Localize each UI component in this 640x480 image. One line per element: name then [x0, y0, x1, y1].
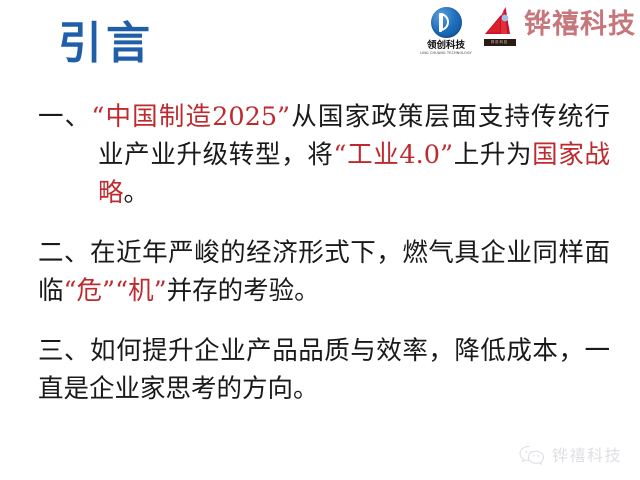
list-item: 二、在近年严峻的经济形式下，燃气具企业同样面临“危”“机”并存的考验。 [38, 234, 610, 310]
brand-ling-chuang-name-cn: 领创科技 [427, 40, 465, 51]
red-sail-icon: 铧禧科技 [483, 7, 519, 47]
brand-hua-xi-name-cn: 铧禧科技 [524, 7, 636, 41]
content-list: 一、“中国制造2025”从国家政策层面支持传统行业产业升级转型，将“工业4.0”… [38, 98, 610, 408]
list-item-marker: 二、 [38, 238, 90, 268]
circle-d-monogram-icon [431, 7, 462, 38]
list-item-text: 。 [124, 178, 150, 208]
list-item-marker: 三、 [38, 336, 90, 366]
slide-canvas: 引言 领创科技 LING CHUANG TECHNOLOGY 铧禧科技 [0, 0, 640, 480]
logo-bar: 领创科技 LING CHUANG TECHNOLOGY 铧禧科技 铧禧科技 [415, 6, 636, 56]
brand-hua-xi-mark-label: 铧禧科技 [491, 40, 508, 45]
list-item-marker: 一、 [38, 102, 91, 132]
list-item-text: 如何提升企业产品品质与效率，降低成本，一直是企业家思考的方向。 [38, 336, 610, 404]
watermark-label: 铧禧科技 [552, 447, 622, 465]
list-item-text: 并存的考验。 [167, 276, 320, 306]
list-item-emphasis: “危”“机” [64, 276, 167, 306]
list-item-emphasis: “工业4.0” [333, 140, 453, 170]
list-item-emphasis: “中国制造2025” [91, 102, 290, 132]
page-title: 引言 [58, 18, 154, 70]
list-item: 一、“中国制造2025”从国家政策层面支持传统行业产业升级转型，将“工业4.0”… [38, 98, 610, 212]
brand-hua-xi: 铧禧科技 铧禧科技 [483, 6, 636, 47]
brand-hua-xi-mark-label-bar: 铧禧科技 [484, 39, 516, 46]
wechat-icon [519, 445, 545, 466]
list-item: 三、如何提升企业产品品质与效率，降低成本，一直是企业家思考的方向。 [38, 332, 610, 408]
watermark: 铧禧科技 [519, 445, 622, 466]
list-item-text: 上升为 [453, 140, 532, 170]
brand-ling-chuang: 领创科技 LING CHUANG TECHNOLOGY [415, 6, 477, 56]
brand-ling-chuang-name-en: LING CHUANG TECHNOLOGY [420, 51, 472, 56]
